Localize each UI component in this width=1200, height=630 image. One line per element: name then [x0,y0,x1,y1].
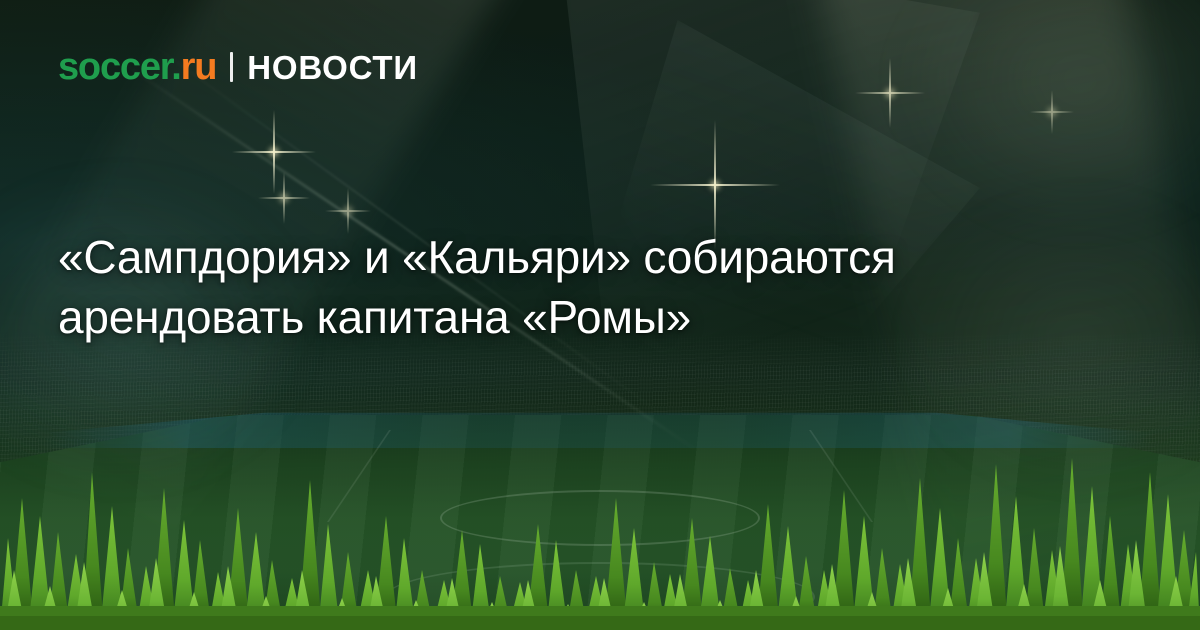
site-logo[interactable]: soccer.ru [58,48,216,86]
news-share-card: soccer.ru НОВОСТИ «Сампдория» и «Кальяри… [0,0,1200,630]
page-title: «Сампдория» и «Кальяри» собираются аренд… [58,228,1068,348]
logo-text-primary: soccer. [58,46,181,88]
logo-text-accent: ru [181,46,217,88]
card-content: soccer.ru НОВОСТИ «Сампдория» и «Кальяри… [0,0,1200,630]
section-label: НОВОСТИ [247,51,418,84]
brand-separator [230,52,233,82]
brand-bar: soccer.ru НОВОСТИ [58,48,418,86]
